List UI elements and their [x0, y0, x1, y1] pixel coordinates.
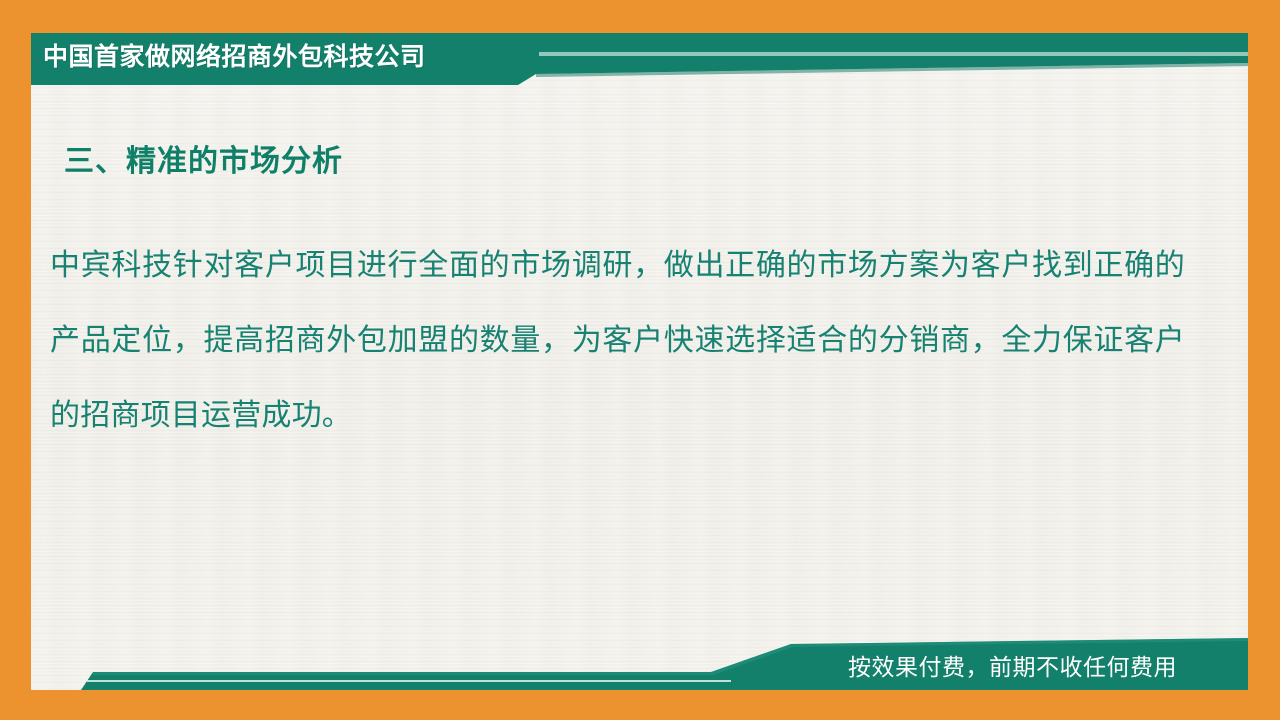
frame-border-right: [1248, 0, 1280, 720]
frame-border-top: [0, 0, 1280, 33]
presentation-slide: 中国首家做网络招商外包科技公司 三、精准的市场分析 中宾科技针对客户项目进行全面…: [0, 0, 1280, 720]
frame-border-left: [0, 0, 31, 720]
page-title: 三、精准的市场分析: [64, 136, 343, 180]
frame-border-bottom: [0, 690, 1280, 720]
body-paragraph: 中宾科技针对客户项目进行全面的市场调研，做出正确的市场方案为客户找到正确的产品定…: [50, 228, 1185, 453]
header-title: 中国首家做网络招商外包科技公司: [43, 37, 426, 73]
footer-tagline: 按效果付费，前期不收任何费用: [848, 648, 1177, 682]
